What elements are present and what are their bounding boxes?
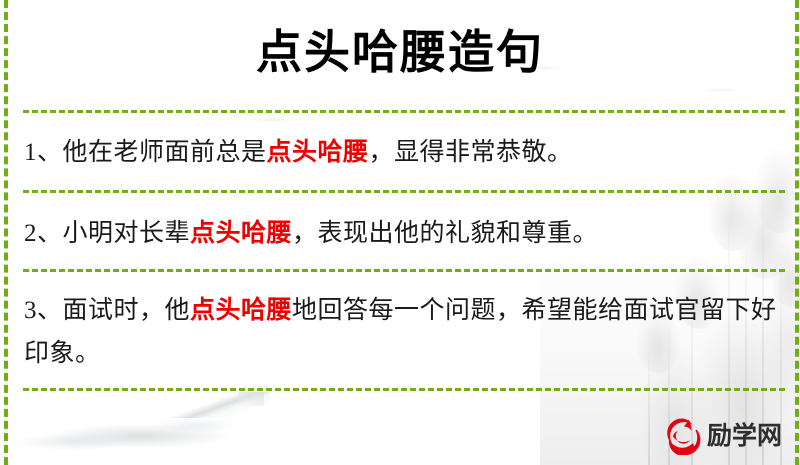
example-sentence-1: 1、他在老师面前总是点头哈腰，显得非常恭敬。 [24,131,780,174]
example-sentence-2: 2、小明对长辈点头哈腰，表现出他的礼貌和尊重。 [24,212,780,255]
red-swirl-bird-logo-icon [663,417,701,455]
worksheet-page: 点头哈腰造句 1、他在老师面前总是点头哈腰，显得非常恭敬。 2、小明对长辈点头哈… [0,0,800,465]
site-logo[interactable]: 励学网 [663,414,782,458]
sentence-3-number: 3、 [24,297,63,324]
sentence-2-number: 2、 [24,220,63,247]
sentence-1-number: 1、 [24,139,63,166]
example-sentence-3: 3、面试时，他点头哈腰地回答每一个问题，希望能给面试官留下好印象。 [24,289,780,375]
sentence-2-suffix: ，表现出他的礼貌和尊重。 [292,220,598,247]
site-logo-text: 励学网 [707,424,782,449]
divider-below-sentence-3 [23,388,785,391]
frame-left-dashed-rule [4,0,8,465]
sentence-3-idiom: 点头哈腰 [190,297,292,324]
divider-above-sentence-2 [23,190,785,193]
sentence-2-prefix: 小明对长辈 [63,220,191,247]
sentence-1-suffix: ，显得非常恭敬。 [369,139,573,166]
sentence-2-idiom: 点头哈腰 [190,220,292,247]
sentence-1-prefix: 他在老师面前总是 [63,139,267,166]
divider-above-sentence-3 [23,269,785,272]
page-title: 点头哈腰造句 [0,24,800,82]
divider-above-sentence-1 [23,110,785,113]
frame-right-dashed-rule [795,0,799,465]
sentence-1-idiom: 点头哈腰 [267,139,369,166]
sentence-3-prefix: 面试时，他 [63,297,191,324]
content-area: 点头哈腰造句 1、他在老师面前总是点头哈腰，显得非常恭敬。 2、小明对长辈点头哈… [0,0,800,465]
